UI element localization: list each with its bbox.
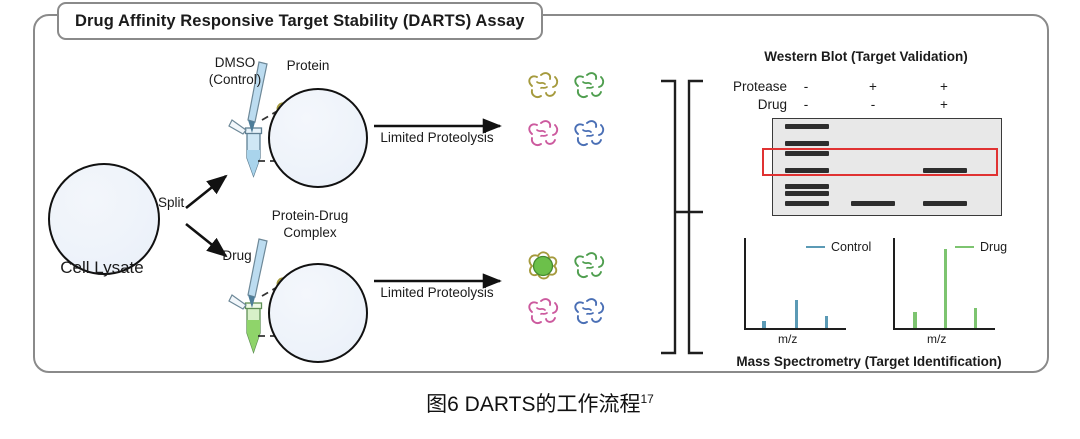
diagram-title-box: Drug Affinity Responsive Target Stabilit… bbox=[57, 2, 543, 40]
drug-lane2-value: - bbox=[871, 97, 876, 113]
ms-y-axis-drug bbox=[893, 238, 895, 330]
protease-row-label: Protease bbox=[727, 79, 787, 95]
ms-peak bbox=[825, 316, 828, 327]
gel-band bbox=[785, 141, 829, 146]
figure-caption-text: 图6 DARTS的工作流程 bbox=[426, 393, 640, 416]
ms-peak bbox=[913, 312, 916, 327]
drug-row-label: Drug bbox=[727, 97, 787, 113]
ms-peak bbox=[944, 249, 947, 328]
dmso-sublabel: (Control) bbox=[209, 72, 262, 88]
protein-label: Protein bbox=[287, 58, 330, 74]
drug-lane3-value: + bbox=[940, 97, 948, 113]
ms-x-axis-drug bbox=[893, 328, 995, 330]
ms-x-axis-control bbox=[744, 328, 846, 330]
limited-proteolysis-label-treated: Limited Proteolysis bbox=[380, 285, 493, 301]
figure-canvas: Drug Affinity Responsive Target Stabilit… bbox=[0, 0, 1080, 439]
drug-lane1-value: - bbox=[804, 97, 809, 113]
cell-lysate-label: Cell Lysate bbox=[60, 258, 143, 279]
dmso-label: DMSO bbox=[215, 55, 256, 71]
gel-band bbox=[785, 184, 829, 189]
ms-y-axis-control bbox=[744, 238, 746, 330]
gel-band bbox=[785, 124, 829, 129]
figure-caption-ref: 17 bbox=[640, 392, 653, 406]
ms-axis-label-control: m/z bbox=[778, 332, 797, 346]
target-band-highlight bbox=[762, 148, 998, 176]
protease-lane2-value: + bbox=[869, 79, 877, 95]
protein-drug-complex-label-1: Protein-Drug bbox=[272, 208, 349, 224]
protein-drug-complex-label-2: Complex bbox=[283, 225, 336, 241]
ms-peak bbox=[974, 308, 977, 328]
ms-legend-control: Control bbox=[806, 240, 871, 254]
ms-peak bbox=[762, 321, 765, 328]
mass-spec-title: Mass Spectrometry (Target Identification… bbox=[736, 354, 1001, 370]
ms-axis-label-drug: m/z bbox=[927, 332, 946, 346]
protease-lane1-value: - bbox=[804, 79, 809, 95]
diagram-title: Drug Affinity Responsive Target Stabilit… bbox=[75, 12, 525, 31]
gel-band bbox=[923, 201, 967, 206]
ms-legend-swatch-drug bbox=[955, 246, 974, 249]
control-zoom-circle bbox=[268, 88, 368, 188]
split-label: Split bbox=[158, 195, 184, 211]
drug-label: Drug bbox=[222, 248, 251, 264]
western-blot-title: Western Blot (Target Validation) bbox=[764, 49, 968, 65]
ms-peak bbox=[795, 300, 798, 328]
gel-band bbox=[851, 201, 895, 206]
gel-band bbox=[785, 191, 829, 196]
ms-legend-label-drug: Drug bbox=[980, 240, 1007, 254]
treated-zoom-circle bbox=[268, 263, 368, 363]
ms-legend-label-control: Control bbox=[831, 240, 871, 254]
ms-legend-drug: Drug bbox=[955, 240, 1007, 254]
figure-caption: 图6 DARTS的工作流程17 bbox=[0, 388, 1080, 418]
limited-proteolysis-label-control: Limited Proteolysis bbox=[380, 130, 493, 146]
protease-lane3-value: + bbox=[940, 79, 948, 95]
gel-band bbox=[785, 201, 829, 206]
ms-legend-swatch-control bbox=[806, 246, 825, 249]
